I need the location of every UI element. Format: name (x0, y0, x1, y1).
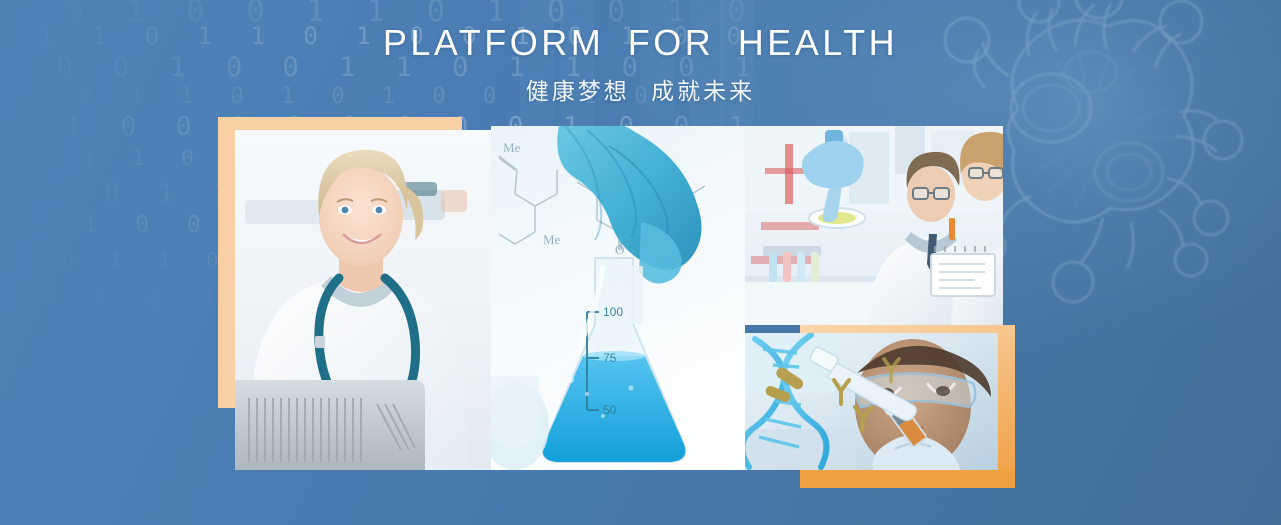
page-title-chinese: 健康梦想 成就未来 (0, 72, 1281, 106)
photo-dna-helix-and-scientist[interactable] (745, 333, 998, 470)
page-title-english: PLATFORM FOR HEALTH (0, 22, 1281, 63)
banner-heading-block: PLATFORM FOR HEALTH 健康梦想 成就未来 (0, 22, 1281, 106)
flask-marking-50: 50 (603, 403, 617, 417)
flask-marking-75: 75 (603, 351, 617, 365)
svg-text:Me: Me (543, 232, 561, 247)
photo-researchers-with-pipette[interactable] (745, 126, 1003, 325)
panel-dna-orange-frame-foot (800, 470, 1015, 488)
photo-smiling-doctor-at-computer[interactable] (235, 130, 491, 470)
photo-gloved-hand-holding-flask[interactable]: Me Me O OH O (491, 126, 745, 470)
health-platform-banner: 1 0 1 0 0 1 1 0 1 0 0 1 0 0 1 00 1 1 0 1… (0, 0, 1281, 525)
svg-text:Me: Me (503, 140, 521, 155)
flask-marking-100: 100 (603, 305, 623, 319)
